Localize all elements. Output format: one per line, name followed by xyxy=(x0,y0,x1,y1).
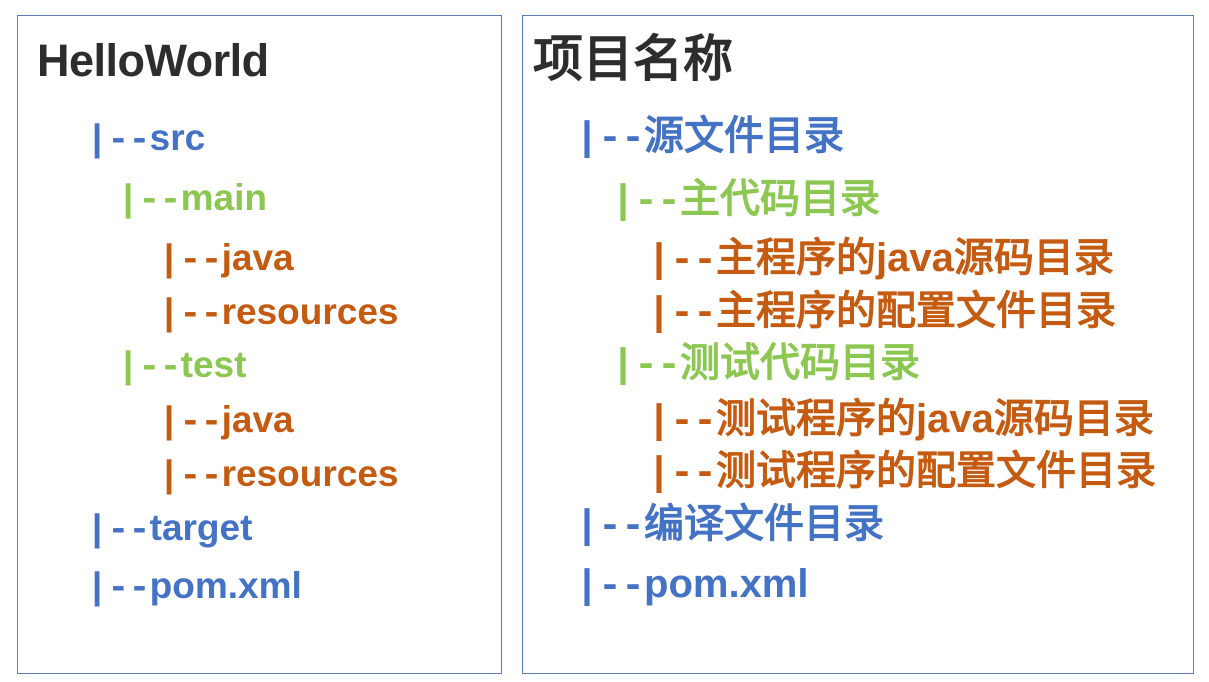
tree-connector: |-- xyxy=(117,180,181,222)
tree-node-label: target xyxy=(150,507,253,548)
panel-description-tree: 项目名称 |--源文件目录 |--主代码目录 |--主程序的java源码目录 |… xyxy=(522,15,1194,674)
tree-row: |--main xyxy=(117,179,267,220)
tree-node-label: src xyxy=(150,117,206,158)
tree-connector: |-- xyxy=(611,344,680,389)
tree-row: |--test xyxy=(117,346,246,387)
tree-row: |--主程序的配置文件目录 xyxy=(647,291,1116,335)
tree-connector: |-- xyxy=(86,568,150,610)
tree-row: |--源文件目录 xyxy=(575,116,844,160)
tree-row: |--resources xyxy=(158,455,399,496)
tree-row: |--测试程序的配置文件目录 xyxy=(647,451,1156,495)
tree-row: |--pom.xml xyxy=(575,564,809,608)
tree-row: |--主程序的java源码目录 xyxy=(647,238,1114,282)
tree-node-label: 主程序的java源码目录 xyxy=(716,236,1114,280)
tree-connector: |-- xyxy=(575,565,644,610)
tree-node-label: 测试代码目录 xyxy=(680,341,920,385)
tree-row: |--resources xyxy=(158,293,399,334)
tree-node-label: pom.xml xyxy=(150,565,302,606)
tree-node-label: java xyxy=(222,399,294,440)
tree-row: |--测试程序的java源码目录 xyxy=(647,399,1154,443)
tree-node-label: 编译文件目录 xyxy=(644,502,884,546)
tree-node-label: test xyxy=(181,344,247,385)
tree-connector: |-- xyxy=(117,347,181,389)
tree-row: |--target xyxy=(86,509,252,550)
tree-connector: |-- xyxy=(158,294,222,336)
tree-node-label: 源文件目录 xyxy=(644,114,844,158)
tree-row: |--测试代码目录 xyxy=(611,343,920,387)
tree-connector: |-- xyxy=(158,402,222,444)
tree-connector: |-- xyxy=(647,292,716,337)
tree-node-label: 测试程序的java源码目录 xyxy=(716,397,1154,441)
tree-connector: |-- xyxy=(575,117,644,162)
tree-connector: |-- xyxy=(158,240,222,282)
tree-connector: |-- xyxy=(86,510,150,552)
tree-node-label: resources xyxy=(222,453,399,494)
tree-row: |--java xyxy=(158,401,294,442)
tree-connector: |-- xyxy=(611,180,680,225)
tree-connector: |-- xyxy=(86,120,150,162)
tree-node-label: 主程序的配置文件目录 xyxy=(716,289,1116,333)
tree-row: |--java xyxy=(158,239,294,280)
tree-node-label: main xyxy=(181,177,267,218)
tree-row: |--主代码目录 xyxy=(611,179,880,223)
tree-row: |--pom.xml xyxy=(86,567,302,608)
tree-row: |--编译文件目录 xyxy=(575,504,884,548)
tree-connector: |-- xyxy=(647,400,716,445)
tree-node-label: pom.xml xyxy=(644,562,808,606)
tree-connector: |-- xyxy=(647,239,716,284)
tree-node-label: 测试程序的配置文件目录 xyxy=(716,449,1156,493)
panel-title-description: 项目名称 xyxy=(533,34,733,84)
tree-node-label: java xyxy=(222,237,294,278)
diagram-canvas: HelloWorld |--src |--main |--java |--res… xyxy=(0,0,1209,682)
tree-connector: |-- xyxy=(158,456,222,498)
panel-title-example: HelloWorld xyxy=(37,38,269,83)
tree-row: |--src xyxy=(86,119,205,160)
tree-connector: |-- xyxy=(575,505,644,550)
tree-node-label: 主代码目录 xyxy=(680,177,880,221)
tree-connector: |-- xyxy=(647,452,716,497)
tree-node-label: resources xyxy=(222,291,399,332)
panel-example-tree: HelloWorld |--src |--main |--java |--res… xyxy=(17,15,502,674)
